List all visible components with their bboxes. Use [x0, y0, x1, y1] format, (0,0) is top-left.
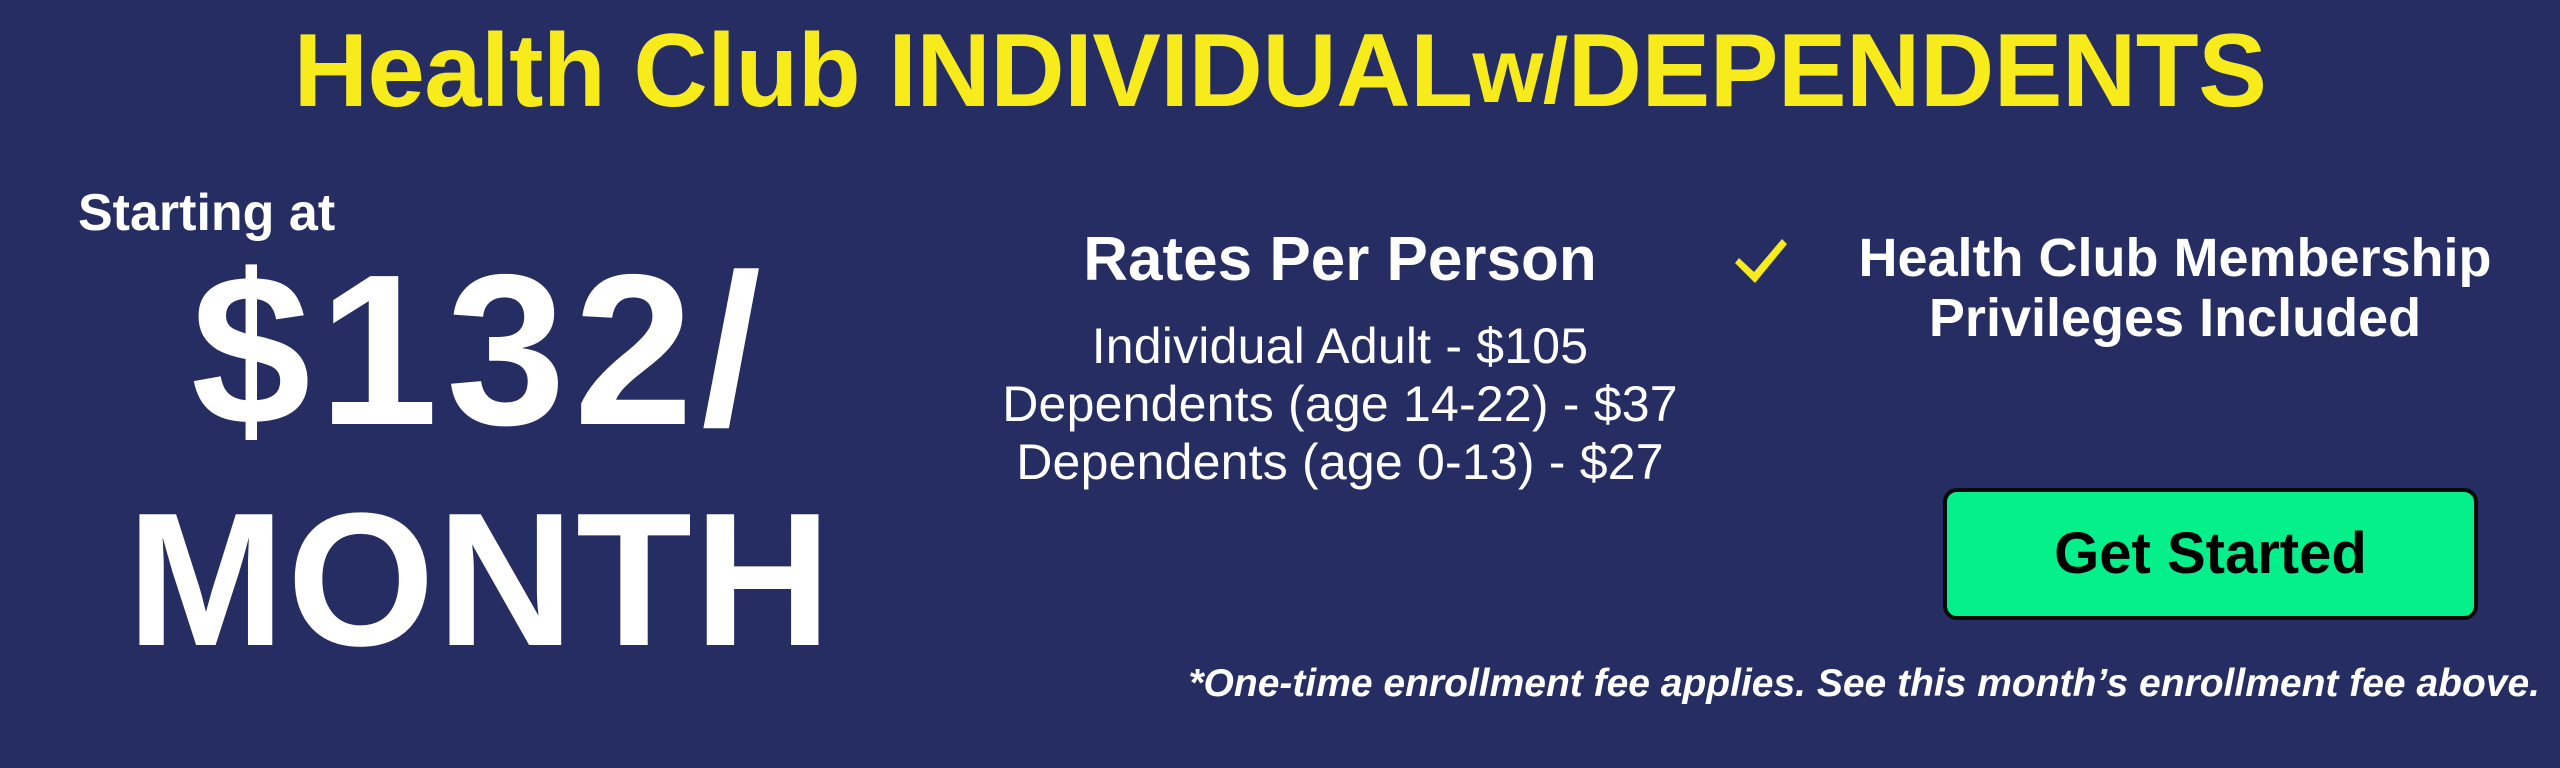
cta-container: Get Started — [1943, 488, 2478, 620]
rates-block: Rates Per Person Individual Adult - $105… — [950, 225, 1730, 491]
list-item: Dependents (age 0-13) - $27 — [950, 433, 1730, 491]
benefit-text: Health Club Membership Privileges Includ… — [1800, 228, 2550, 348]
headline-part-with: w/ — [1472, 19, 1567, 123]
benefit-row: Health Club Membership Privileges Includ… — [1730, 228, 2550, 348]
benefit-line-2: Privileges Included — [1800, 288, 2550, 348]
rates-title: Rates Per Person — [950, 225, 1730, 295]
check-icon — [1730, 232, 1792, 294]
price-block: Starting at $132/ MONTH — [40, 185, 920, 725]
list-item: Dependents (age 14-22) - $37 — [950, 375, 1730, 433]
promo-banner: Health Club INDIVIDUAL w/DEPENDENTS Star… — [0, 0, 2560, 768]
rates-list: Individual Adult - $105 Dependents (age … — [950, 317, 1730, 491]
headline-part-dependents: DEPENDENTS — [1568, 19, 2267, 123]
page-title: Health Club INDIVIDUAL w/DEPENDENTS — [13, 14, 2547, 128]
price-amount: $132/ — [40, 242, 920, 457]
price-period: MONTH — [40, 485, 920, 675]
benefit-line-1: Health Club Membership — [1800, 228, 2550, 288]
headline-part-primary: Health Club INDIVIDUAL — [294, 19, 1473, 123]
get-started-button[interactable]: Get Started — [1943, 488, 2478, 620]
list-item: Individual Adult - $105 — [950, 317, 1730, 375]
footnote-disclaimer: *One-time enrollment fee applies. See th… — [1140, 662, 2540, 706]
